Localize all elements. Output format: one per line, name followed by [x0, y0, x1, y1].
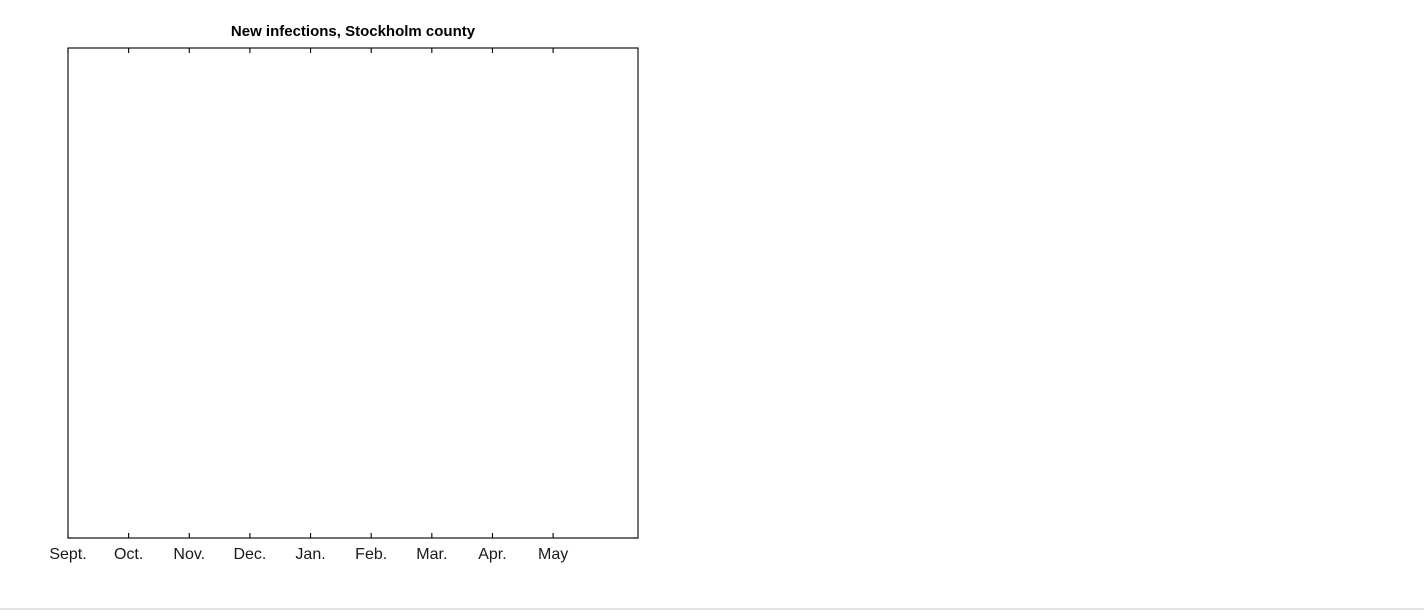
x-tick-label: Oct. — [114, 546, 143, 563]
chart-svg-left: New infections, Stockholm countySept.Oct… — [0, 0, 712, 610]
x-tick-label: May — [538, 546, 568, 563]
x-tick-label: Apr. — [478, 546, 506, 563]
x-tick-label: Feb. — [355, 546, 387, 563]
x-tick-label: Dec. — [233, 546, 266, 563]
chart-panel-left: New infections, Stockholm countySept.Oct… — [0, 0, 712, 610]
x-tick-label: Jan. — [295, 546, 325, 563]
plot-group-left: New infections, Stockholm countySept.Oct… — [49, 23, 638, 563]
plot-frame — [68, 48, 638, 538]
x-tick-label: Sept. — [49, 546, 86, 563]
chart-panel-right — [712, 0, 1424, 610]
x-tick-label: Nov. — [173, 546, 205, 563]
x-tick-label: Mar. — [416, 546, 447, 563]
figure-root: New infections, Stockholm countySept.Oct… — [0, 0, 1424, 610]
chart-svg-right — [712, 0, 1424, 610]
panel-title: New infections, Stockholm county — [231, 23, 476, 40]
